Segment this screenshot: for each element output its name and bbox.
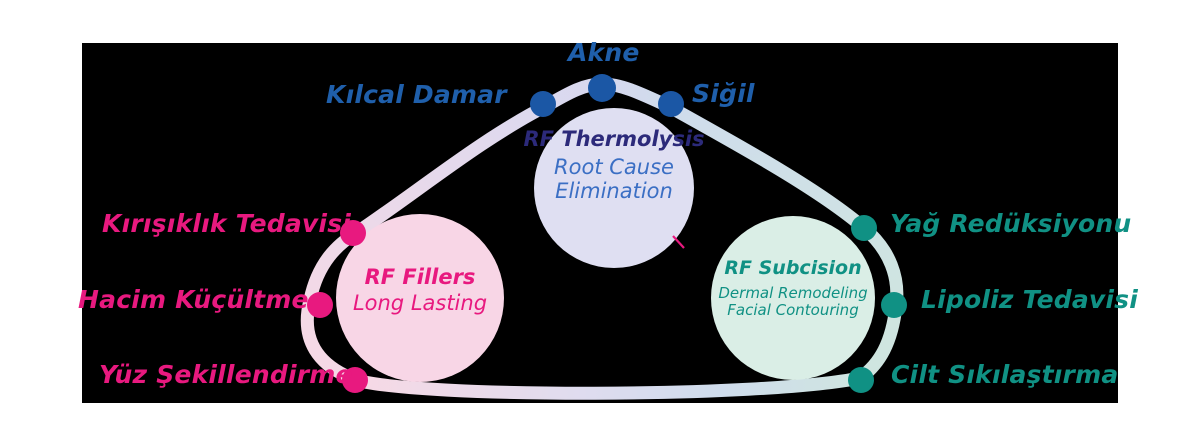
label-right-yag-reduksiyonu[interactable]: Yağ Redüksiyonu [890, 209, 1131, 238]
node-center-title: RF Thermolysis [514, 128, 714, 152]
diagram-canvas: RF Thermolysis Root Cause Elimination RF… [0, 0, 1200, 440]
label-top-kilcal-damar[interactable]: Kılcal Damar [326, 80, 507, 109]
node-left-subtitle-1: Long Lasting [320, 292, 520, 316]
label-top-sigil[interactable]: Siğil [692, 79, 755, 108]
node-label-right: RF Subcision Dermal Remodeling Facial Co… [693, 258, 893, 319]
node-center-subtitle-1: Root Cause [514, 156, 714, 180]
label-top-akne[interactable]: Akne [568, 38, 640, 67]
label-left-yuz-sekillendirme[interactable]: Yüz Şekillendirme [99, 360, 353, 389]
node-right-subtitle-1: Dermal Remodeling [693, 285, 893, 302]
label-left-hacim-kucultme[interactable]: Hacim Küçültme [78, 285, 309, 314]
node-label-center: RF Thermolysis Root Cause Elimination [514, 128, 714, 204]
label-left-kirisiklik-tedavisi[interactable]: Kırışıklık Tedavisi [102, 209, 351, 238]
label-right-lipoliz-tedavisi[interactable]: Lipoliz Tedavisi [921, 285, 1138, 314]
node-right-title: RF Subcision [693, 258, 893, 280]
node-center-subtitle-2: Elimination [514, 180, 714, 204]
node-right-subtitle-2: Facial Contouring [693, 302, 893, 319]
label-right-cilt-sikilastirma[interactable]: Cilt Sıkılaştırma [891, 360, 1118, 389]
node-label-left: RF Fillers Long Lasting [320, 266, 520, 316]
node-left-title: RF Fillers [320, 266, 520, 290]
